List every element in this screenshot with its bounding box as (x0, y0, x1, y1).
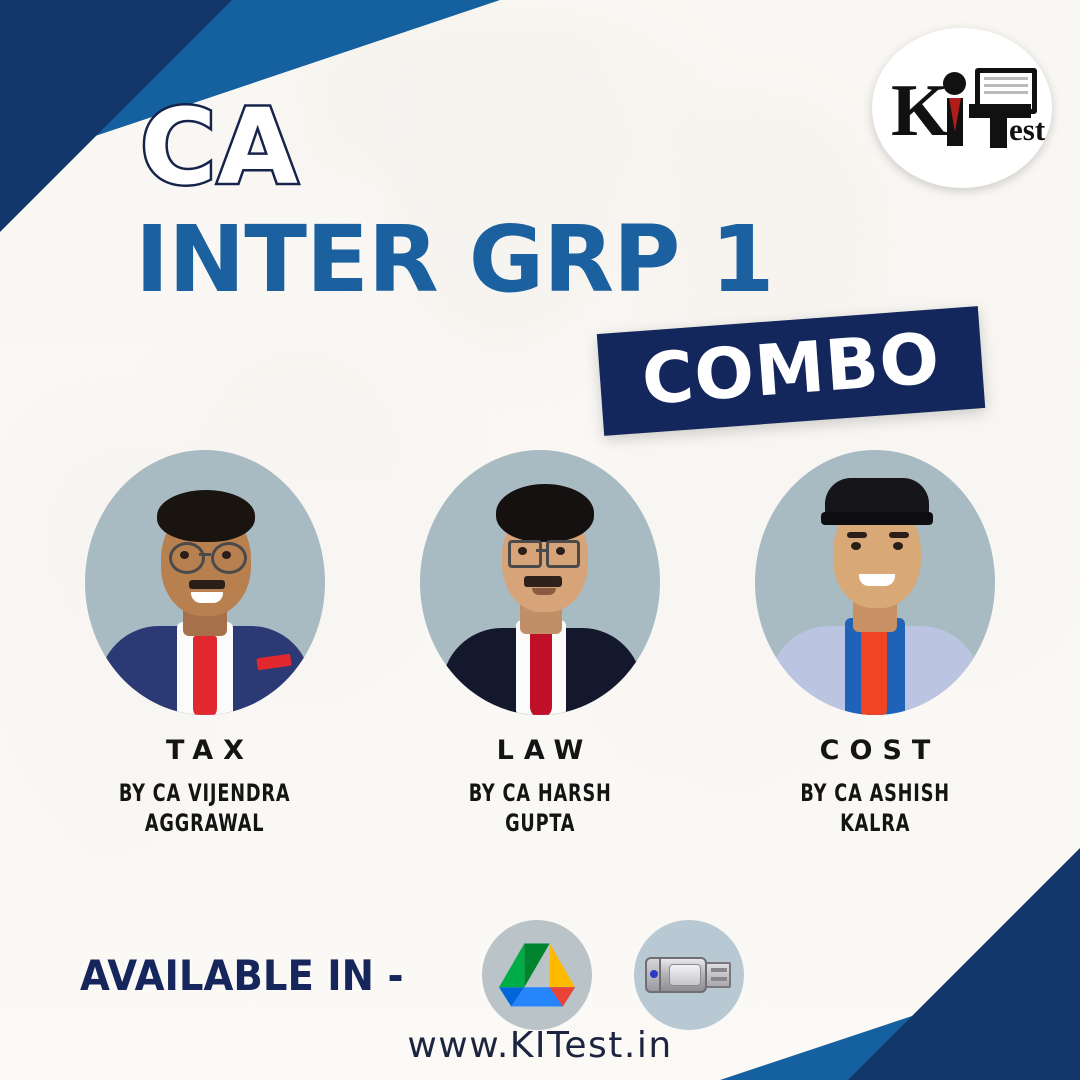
faculty-list: TAX BY CA VIJENDRA AGGRAWAL (60, 450, 1020, 838)
promo-poster: K est CA INTER GRP 1 COMBO (0, 0, 1080, 1080)
faculty-name-line1: BY CA HARSH (468, 778, 611, 808)
portrait-harsh-gupta (420, 450, 660, 715)
faculty-name-law: BY CA HARSH GUPTA (468, 778, 611, 838)
kitest-logo: K est (872, 28, 1052, 188)
faculty-subject-cost: COST (810, 735, 941, 766)
faculty-name-line1: BY CA VIJENDRA (119, 778, 291, 808)
logo-letter-k: K (891, 76, 947, 146)
faculty-card-cost: COST BY CA ASHISH KALRA (730, 450, 1020, 838)
usb-led-icon (650, 970, 658, 978)
kitest-logo-mark: K est (887, 62, 1037, 154)
faculty-name-cost: BY CA ASHISH KALRA (800, 778, 950, 838)
page-title: INTER GRP 1 (135, 212, 774, 308)
logo-i-dot-icon (943, 72, 966, 95)
faculty-name-line2: KALRA (800, 808, 950, 838)
logo-letter-t-stem (990, 104, 1007, 148)
usb-glyph (645, 955, 733, 995)
pen-drive-icon (634, 920, 744, 1030)
faculty-subject-tax: TAX (156, 735, 254, 766)
faculty-name-line2: AGGRAWAL (119, 808, 291, 838)
usb-label-window (669, 964, 701, 986)
portrait-vijendra-aggrawal (85, 450, 325, 715)
faculty-subject-law: LAW (487, 735, 594, 766)
availability-row: AVAILABLE IN - (80, 920, 744, 1030)
faculty-card-law: LAW BY CA HARSH GUPTA (395, 450, 685, 838)
faculty-name-tax: BY CA VIJENDRA AGGRAWAL (119, 778, 291, 838)
google-drive-icon (482, 920, 592, 1030)
page-title-eyebrow: CA (140, 95, 299, 199)
google-drive-glyph (499, 941, 575, 1009)
usb-connector (705, 962, 731, 988)
website-url[interactable]: www.KITest.in (0, 1025, 1080, 1066)
faculty-card-tax: TAX BY CA VIJENDRA AGGRAWAL (60, 450, 350, 838)
combo-badge-label: COMBO (640, 323, 943, 415)
portrait-ashish-kalra (755, 450, 995, 715)
necktie-icon (949, 98, 961, 132)
logo-text-est: est (1009, 114, 1045, 145)
faculty-name-line1: BY CA ASHISH (800, 778, 950, 808)
availability-label: AVAILABLE IN - (80, 951, 404, 1000)
faculty-name-line2: GUPTA (468, 808, 611, 838)
